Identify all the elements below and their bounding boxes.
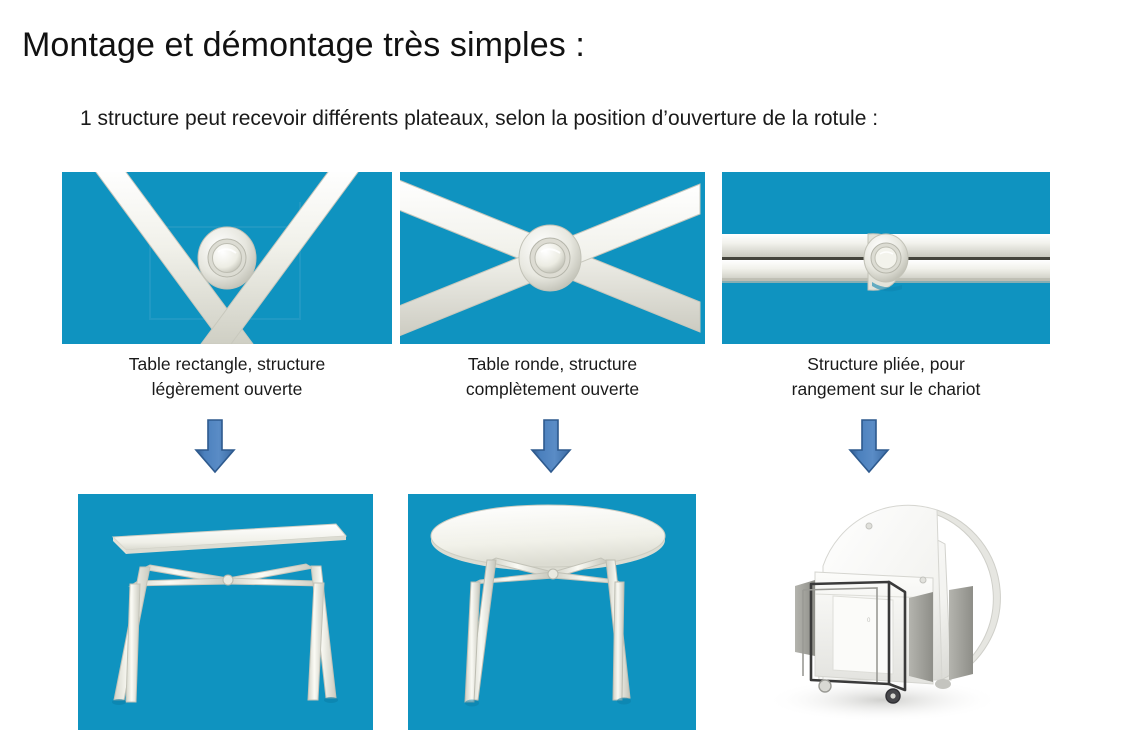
page-title: Montage et démontage très simples : (22, 26, 585, 65)
storage-trolley-illustration: 0 (737, 494, 1025, 730)
cross-frame-fully-open-illustration (400, 172, 705, 344)
cross-frame-narrow-open-illustration (62, 172, 392, 344)
caption-ronde: Table ronde, structure complètement ouve… (400, 352, 705, 402)
cross-frame-narrow-open-photo (62, 172, 392, 344)
page-subtitle: 1 structure peut recevoir différents pla… (80, 107, 878, 131)
caption-pliee: Structure pliée, pour rangement sur le c… (722, 352, 1050, 402)
caption-rectangle: Table rectangle, structure légèrement ou… (62, 352, 392, 402)
down-arrow-icon (192, 418, 238, 474)
caption-rectangle-line2: légèrement ouverte (62, 377, 392, 402)
caption-ronde-line2: complètement ouverte (400, 377, 705, 402)
down-arrow-icon-ronde (528, 418, 574, 474)
down-arrow-icon (528, 418, 574, 474)
rectangular-table-photo (78, 494, 373, 730)
down-arrow-icon-pliee (846, 418, 892, 474)
storage-trolley-photo: 0 (737, 494, 1025, 730)
slide: Montage et démontage très simples : 1 st… (0, 0, 1122, 745)
caption-rectangle-line1: Table rectangle, structure (62, 352, 392, 377)
folded-frame-illustration (722, 172, 1050, 344)
round-table-photo (408, 494, 696, 730)
round-table-illustration (408, 494, 696, 730)
rectangular-table-illustration (78, 494, 373, 730)
caption-ronde-line1: Table ronde, structure (400, 352, 705, 377)
down-arrow-icon (846, 418, 892, 474)
folded-frame-photo (722, 172, 1050, 344)
caption-pliee-line1: Structure pliée, pour (722, 352, 1050, 377)
down-arrow-icon-rectangle (192, 418, 238, 474)
cross-frame-fully-open-photo (400, 172, 705, 344)
caption-pliee-line2: rangement sur le chariot (722, 377, 1050, 402)
